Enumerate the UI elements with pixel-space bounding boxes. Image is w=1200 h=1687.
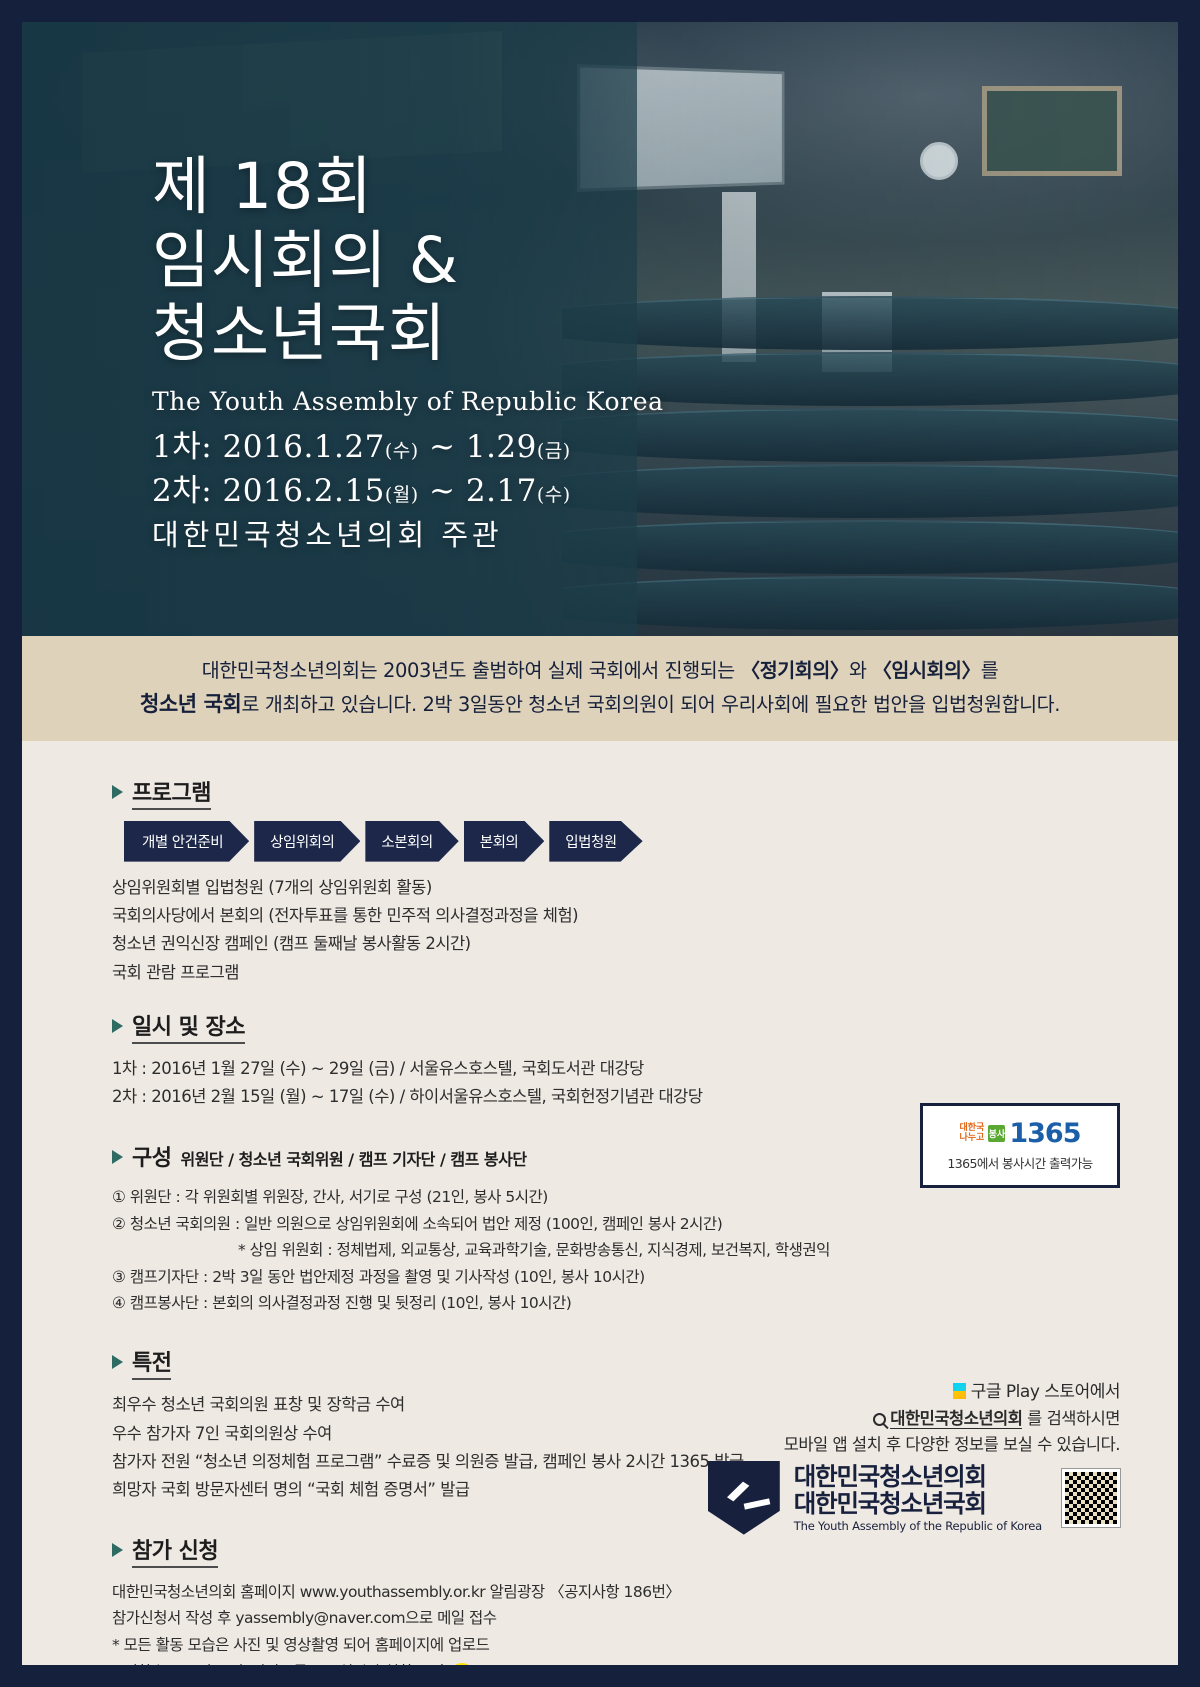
hero-text-block: 제 18회 임시회의 & 청소년국회 The Youth Assembly of… bbox=[152, 150, 672, 556]
intro-banner-line1: 대한민국청소년의회는 2003년도 출범하여 실제 국회에서 진행되는 〈정기회… bbox=[22, 655, 1178, 687]
apply-line-4: * 선착순 150인 모집, 카카오톡으로 실시간 현황 문의 TALK yas… bbox=[112, 1659, 1104, 1665]
program-heading-row: 프로그램 bbox=[112, 775, 1104, 810]
kakao-id: yassembly bbox=[481, 1661, 559, 1665]
triangle-bullet-icon bbox=[112, 1150, 123, 1164]
logo-line-en: The Youth Assembly of the Republic of Ko… bbox=[794, 1520, 1042, 1533]
program-heading: 프로그램 bbox=[132, 775, 211, 810]
section-program: 프로그램 개별 안건준비 상임위회의 소본회의 본회의 입법청원 상임위원회별 … bbox=[112, 775, 1104, 988]
apply-line-1: 대한민국청소년의회 홈페이지 www.youthassembly.or.kr 알… bbox=[112, 1579, 1104, 1606]
session1-start: 2016.1.27 bbox=[223, 429, 385, 465]
app-search-keyword: 대한민국청소년의회 bbox=[890, 1409, 1022, 1429]
program-line-4: 국회 관람 프로그램 bbox=[112, 959, 1104, 987]
qr-code bbox=[1062, 1469, 1120, 1527]
triangle-bullet-icon bbox=[112, 1543, 123, 1557]
intro-banner-line2: 청소년 국회로 개최하고 있습니다. 2박 3일동안 청소년 국회의원이 되어 … bbox=[22, 687, 1178, 721]
composition-item-2: ② 청소년 국회의원 : 일반 의원으로 상임위원회에 소속되어 법안 제정 (… bbox=[112, 1211, 1104, 1238]
intro-banner: 대한민국청소년의회는 2003년도 출범하여 실제 국회에서 진행되는 〈정기회… bbox=[22, 636, 1178, 741]
badge-1365-row: 대한국 나누고 봉사 1365 bbox=[960, 1118, 1081, 1149]
badge-1365-number: 1365 bbox=[1009, 1118, 1080, 1149]
page-title: 제 18회 임시회의 & 청소년국회 bbox=[152, 150, 672, 371]
hero-dates: 1차: 2016.1.27(수) ~ 1.29(금) 2차: 2016.2.15… bbox=[152, 425, 672, 556]
flow-step-3: 소본회의 bbox=[365, 821, 458, 862]
program-line-1: 상임위원회별 입법청원 (7개의 상임위원회 활동) bbox=[112, 874, 1104, 902]
intro-text-4: 〈임시회의〉 bbox=[872, 659, 980, 682]
apply-line-3: * 모든 활동 모습은 사진 및 영상촬영 되어 홈페이지에 업로드 bbox=[112, 1632, 1104, 1659]
schedule-heading-row: 일시 및 장소 bbox=[112, 1009, 1104, 1044]
composition-item-3: ③ 캠프기자단 : 2박 3일 동안 법안제정 과정을 촬영 및 기사작성 (1… bbox=[112, 1264, 1104, 1291]
flow-step-5: 입법청원 bbox=[549, 821, 642, 862]
app-info: 구글 Play 스토어에서 대한민국청소년의회 를 검색하시면 모바일 앱 설치… bbox=[700, 1379, 1120, 1459]
app-info-line-2: 대한민국청소년의회 를 검색하시면 bbox=[700, 1406, 1120, 1432]
program-line-2: 국회의사당에서 본회의 (전자투표를 통한 민주적 의사결정과정을 체험) bbox=[112, 902, 1104, 930]
flow-step-2: 상임위회의 bbox=[254, 821, 360, 862]
triangle-bullet-icon bbox=[112, 1355, 123, 1369]
committee-note: * 상임 위원회 : 정체법제, 외교통상, 교육과학기술, 문화방송통신, 지… bbox=[112, 1237, 1104, 1264]
apply-line-4-text: * 선착순 150인 모집, 카카오톡으로 실시간 현황 문의 bbox=[112, 1663, 449, 1665]
hero-section: 제 18회 임시회의 & 청소년국회 The Youth Assembly of… bbox=[22, 22, 1178, 636]
session1-label: 1차: bbox=[152, 429, 212, 465]
badge-1365: 대한국 나누고 봉사 1365 1365에서 봉사시간 출력가능 bbox=[920, 1103, 1120, 1188]
logo-line-2: 대한민국청소년국회 bbox=[794, 1490, 1042, 1517]
flow-step-4: 본회의 bbox=[464, 821, 545, 862]
schedule-line-1: 1차 : 2016년 1월 27일 (수) ~ 29일 (금) / 서울유스호스… bbox=[112, 1055, 1104, 1083]
poster-sheet: 제 18회 임시회의 & 청소년국회 The Youth Assembly of… bbox=[22, 22, 1178, 1665]
intro-text-1: 대한민국청소년의회는 2003년도 출범하여 실제 국회에서 진행되는 bbox=[202, 659, 741, 682]
session2-start-dow: (월) bbox=[385, 484, 419, 506]
hero-session1: 1차: 2016.1.27(수) ~ 1.29(금) bbox=[152, 425, 672, 469]
session1-start-dow: (수) bbox=[385, 440, 419, 462]
session2-end-dow: (수) bbox=[537, 484, 571, 506]
logo-line-1: 대한민국청소년의회 bbox=[794, 1463, 1042, 1490]
section-apply: 참가 신청 대한민국청소년의회 홈페이지 www.youthassembly.o… bbox=[112, 1533, 1104, 1665]
app-store-text: 구글 Play 스토어에서 bbox=[971, 1382, 1120, 1402]
content-area: 프로그램 개별 안건준비 상임위회의 소본회의 본회의 입법청원 상임위원회별 … bbox=[22, 741, 1178, 1665]
session2-start: 2016.2.15 bbox=[223, 473, 385, 509]
schedule-heading: 일시 및 장소 bbox=[132, 1009, 245, 1044]
composition-item-1: ① 위원단 : 각 위원회별 위원장, 간사, 서기로 구성 (21인, 봉사 … bbox=[112, 1184, 1104, 1211]
session2-end: 2.17 bbox=[466, 473, 537, 509]
app-search-suffix: 를 검색하시면 bbox=[1022, 1409, 1120, 1428]
session1-tilde: ~ bbox=[429, 429, 455, 465]
composition-item-4: ④ 캠프봉사단 : 본회의 의사결정과정 진행 및 뒷정리 (10인, 봉사 1… bbox=[112, 1290, 1104, 1317]
section-schedule: 일시 및 장소 1차 : 2016년 1월 27일 (수) ~ 29일 (금) … bbox=[112, 1009, 1104, 1112]
badge-mark-line2: 나누고 bbox=[960, 1133, 985, 1143]
session1-end-dow: (금) bbox=[537, 440, 571, 462]
session2-label: 2차: bbox=[152, 473, 212, 509]
hero-session2: 2차: 2016.2.15(월) ~ 2.17(수) bbox=[152, 469, 672, 513]
composition-subheading: 위원단 / 청소년 국회위원 / 캠프 기자단 / 캠프 봉사단 bbox=[180, 1146, 526, 1170]
apply-line-2: 참가신청서 작성 후 yassembly@naver.com으로 메일 접수 bbox=[112, 1605, 1104, 1632]
kakao-contact: TALK yassembly bbox=[449, 1661, 559, 1665]
benefits-heading-row: 특전 bbox=[112, 1345, 1104, 1380]
volunteer-mark-icon: 대한국 나누고 bbox=[960, 1124, 985, 1143]
logo-text: 대한민국청소년의회 대한민국청소년국회 The Youth Assembly o… bbox=[794, 1463, 1042, 1533]
google-play-icon bbox=[953, 1383, 966, 1399]
intro-highlight: 청소년 국회 bbox=[140, 692, 242, 716]
program-flow: 개별 안건준비 상임위회의 소본회의 본회의 입법청원 bbox=[124, 821, 1104, 862]
intro-text-2: 〈정기회의〉 bbox=[741, 659, 849, 682]
session1-end: 1.29 bbox=[466, 429, 537, 465]
kakaotalk-icon: TALK bbox=[449, 1663, 475, 1665]
intro-text-6: 로 개최하고 있습니다. 2박 3일동안 청소년 국회의원이 되어 우리사회에 … bbox=[241, 693, 1060, 716]
triangle-bullet-icon bbox=[112, 785, 123, 799]
program-line-3: 청소년 권익신장 캠페인 (캠프 둘째날 봉사활동 2시간) bbox=[112, 930, 1104, 958]
organization-logo: 대한민국청소년의회 대한민국청소년국회 The Youth Assembly o… bbox=[708, 1461, 1120, 1535]
intro-text-3: 와 bbox=[849, 659, 872, 682]
app-info-line-1: 구글 Play 스토어에서 bbox=[700, 1379, 1120, 1406]
flow-step-1: 개별 안건준비 bbox=[124, 821, 249, 862]
hero-subtitle-en: The Youth Assembly of Republic Korea bbox=[152, 387, 672, 416]
apply-heading: 참가 신청 bbox=[132, 1533, 218, 1568]
leaf-icon: 봉사 bbox=[988, 1125, 1005, 1142]
apply-heading-row: 참가 신청 bbox=[112, 1533, 1104, 1568]
composition-heading: 구성 bbox=[132, 1140, 171, 1173]
search-icon bbox=[873, 1413, 886, 1426]
hero-host: 대한민국청소년의회 주관 bbox=[152, 515, 672, 556]
session2-tilde: ~ bbox=[429, 473, 455, 509]
app-info-line-3: 모바일 앱 설치 후 다양한 정보를 보실 수 있습니다. bbox=[700, 1432, 1120, 1458]
intro-text-5: 를 bbox=[981, 659, 999, 682]
gavel-emblem-icon bbox=[708, 1461, 780, 1535]
badge-1365-caption: 1365에서 봉사시간 출력가능 bbox=[947, 1153, 1092, 1172]
triangle-bullet-icon bbox=[112, 1019, 123, 1033]
benefits-heading: 특전 bbox=[132, 1345, 171, 1380]
poster-frame: 제 18회 임시회의 & 청소년국회 The Youth Assembly of… bbox=[0, 0, 1200, 1687]
